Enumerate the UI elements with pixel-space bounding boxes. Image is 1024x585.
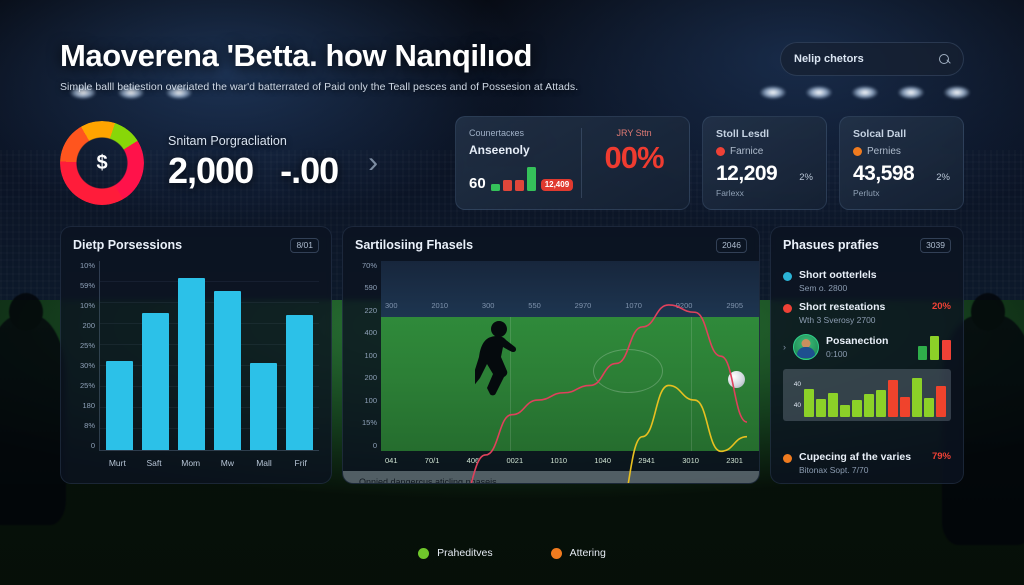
mini-bar [924,398,934,416]
axis-tick-label: 59% [73,281,95,290]
list-item-sub: Sem o. 2800 [799,283,944,293]
bar-Mom[interactable] [178,278,205,450]
possession-plot [99,261,319,451]
stat-card-1-pct: 2% [799,172,813,183]
axis-tick-label: 200 [73,321,95,330]
search-input[interactable]: Nelip chetors [780,42,964,76]
stat-card-1-sub: Farnice [716,146,813,157]
chevron-right-icon[interactable]: › [783,342,786,352]
profiles-panel: Phasues prafies 3039 Short ootterlels Se… [770,226,964,484]
counterattacks-pill: 12,409 [541,179,573,191]
legend-item-0[interactable]: Praheditves [418,547,492,559]
status-dot-icon [853,147,862,156]
status-dot-icon [716,147,725,156]
counterattacks-left: Counertacкes Anseenoly 60 12,409 [469,128,582,198]
axis-tick-label: Frif [282,458,319,468]
mini-bar [840,405,850,417]
mini-bar [900,397,910,416]
list-item-pct: 20% [932,301,951,312]
mini-bar [936,386,946,416]
stat-card-1-foot: Farlexx [716,188,813,198]
mini-bar [876,390,886,417]
mini-bar [888,380,898,417]
stat-card-1-value: 12,209 [716,162,777,186]
panels-row: Dietp Porsessions 8/01 10%59%10%20025%30… [60,226,964,484]
axis-tick-label: 220 [355,306,377,315]
legend-item-1[interactable]: Attering [551,547,606,559]
profiles-footer[interactable]: Cupecing af the varies Bitonax Sopt. 7/7… [783,443,951,475]
footer-item-name: Cupecing af the varies [799,451,925,463]
hero-metric: Snitam Porgracliation 2,000 -.00 [168,134,338,192]
search-value: Nelip chetors [794,53,931,65]
axis-tick-label: 400 [355,328,377,337]
counterattacks-card[interactable]: Counertacкes Anseenoly 60 12,409 [455,116,690,210]
bar-Murt[interactable] [106,361,133,450]
phases-line-series [381,261,747,485]
possession-chart: 10%59%10%20025%30%25%1808%0 [73,261,319,451]
status-dot-icon [783,304,792,313]
stat-card-1-title: Stoll Lesdl [716,128,813,140]
phases-panel-header: Sartilosiing Fhasels 2046 [355,238,747,253]
axis-tick-label: 100 [355,396,377,405]
axis-tick-label: Mom [172,458,209,468]
stat-card-2-sub-label: Pernies [867,146,901,157]
list-item-name: Short resteations [799,301,925,313]
axis-tick-label: 200 [355,373,377,382]
possession-panel-badge[interactable]: 8/01 [290,238,319,253]
axis-tick-label: Mall [246,458,283,468]
axis-tick-label: Mw [209,458,246,468]
legend-dot-icon [551,548,562,559]
axis-tick-label: 15% [355,418,377,427]
phases-panel-title: Sartilosiing Fhasels [355,238,473,252]
hero-row: $ Snitam Porgracliation 2,000 -.00 › Cou… [60,116,964,210]
footer-item-sub: Bitonax Sopt. 7/70 [799,465,925,475]
profiles-panel-header: Phasues prafies 3039 [783,238,951,253]
profile-mini-bars [918,334,951,360]
axis-tick-label: 25% [73,341,95,350]
hero-metric-value: 2,000 -.00 [168,150,338,192]
stat-card-2-foot: Perlutx [853,188,950,198]
stat-card-2-pct: 2% [936,172,950,183]
axis-tick-label: 0 [73,441,95,450]
mini-chart-bars [804,374,946,417]
phases-y-axis: 70%59022040010020010015%0 [355,261,381,451]
list-item[interactable]: Short resteations Wth 3 Sverosy 2700 20% [783,301,951,325]
bar-Mw[interactable] [214,291,241,450]
bar-Mall[interactable] [250,363,277,450]
header-text-block: Maoverena 'Betta. how Nanqilıod Simple b… [60,38,578,93]
counterattacks-sparkline [491,165,536,191]
footer-item-pct: 79% [932,451,951,462]
stat-card-2-title: Solcal Dall [853,128,950,140]
mini-bar [804,389,814,417]
axis-tick-label: 40 [788,381,801,388]
chart-legend: Praheditves Attering [0,547,1024,559]
stat-card-1[interactable]: Stoll Lesdl Farnice 12,209 2% Farlexx [702,116,827,210]
possession-x-axis: MurtSaftMomMwMallFrif [73,458,319,468]
stat-card-2[interactable]: Solcal Dall Pernies 43,598 2% Perlutx [839,116,964,210]
stat-card-2-value: 43,598 [853,162,914,186]
counterattacks-row: 60 12,409 [469,165,573,191]
axis-tick-label: 8% [73,421,95,430]
possession-panel-header: Dietp Porsessions 8/01 [73,238,319,253]
profiles-mini-bar-chart: 4040 [783,369,951,421]
phases-line-panel: Sartilosiing Fhasels 2046 70%59022040010… [342,226,760,484]
phases-panel-badge[interactable]: 2046 [716,238,747,253]
possession-panel-title: Dietp Porsessions [73,238,182,252]
list-item[interactable]: Cupecing af the varies Bitonax Sopt. 7/7… [783,451,951,475]
avatar [793,334,819,360]
axis-tick-label: 70% [355,261,377,270]
counterattacks-label: Anseenoly [469,143,573,157]
profile-sub: 0:100 [826,349,888,359]
donut-gauge[interactable]: $ [60,121,144,205]
counterattacks-right: JRY Sttn 00% [582,128,676,198]
mini-bar [816,399,826,416]
bar-Frif[interactable] [286,315,313,449]
axis-tick-label: 25% [73,381,95,390]
jry-value: 00% [605,142,664,173]
bar-Saft[interactable] [142,313,169,449]
profile-name: Posanection [826,335,888,347]
profiles-panel-badge[interactable]: 3039 [920,238,951,253]
mini-bar [852,400,862,416]
mini-bar [828,393,838,417]
hero-metric-label: Snitam Porgracliation [168,134,338,148]
axis-tick-label: 0 [355,441,377,450]
legend-dot-icon [418,548,429,559]
legend-label: Attering [570,547,606,559]
axis-tick-label: 590 [355,283,377,292]
status-dot-icon [783,454,792,463]
page-subtitle: Simple balll betiestion overiated the wa… [60,81,578,93]
profile-row[interactable]: › Posanection 0:100 [783,334,951,360]
line-series-Attering [381,304,747,484]
legend-label: Praheditves [437,547,492,559]
status-dot-icon [783,272,792,281]
phases-chart: 70%59022040010020010015%0 30020103005502… [355,261,747,451]
search-icon[interactable] [939,54,950,65]
page-title: Maoverena 'Betta. how Nanqilıod [60,38,578,74]
stat-card-2-sub: Pernies [853,146,950,157]
axis-tick-label: Murt [99,458,136,468]
phases-plot: 30020103005502970107092002905 [381,261,747,451]
jry-title: JRY Sttn [616,128,651,138]
header: Maoverena 'Betta. how Nanqilıod Simple b… [60,38,964,93]
axis-tick-label: 30% [73,361,95,370]
chevron-right-icon[interactable]: › [368,148,378,178]
axis-tick-label: 40 [788,402,801,409]
mini-bar [912,378,922,417]
counterattacks-value: 60 [469,176,486,191]
list-item-sub: Wth 3 Sverosy 2700 [799,315,925,325]
currency-icon: $ [60,121,144,205]
line-series-Praheditves [381,385,747,484]
list-item-name: Short ootterlels [799,269,944,281]
hero-cards: Counertacкes Anseenoly 60 12,409 [455,116,964,210]
mini-chart-y-axis: 4040 [788,374,804,417]
axis-tick-label: 10% [73,301,95,310]
list-item[interactable]: Short ootterlels Sem o. 2800 [783,269,951,293]
mini-bar [864,394,874,417]
axis-tick-label: 10% [73,261,95,270]
possession-y-axis: 10%59%10%20025%30%25%1808%0 [73,261,99,451]
stat-card-1-valrow: 12,209 2% [716,157,813,186]
dashboard-root: Maoverena 'Betta. how Nanqilıod Simple b… [0,0,1024,585]
possession-bar-panel: Dietp Porsessions 8/01 10%59%10%20025%30… [60,226,332,484]
axis-tick-label: 100 [355,351,377,360]
stat-card-2-valrow: 43,598 2% [853,157,950,186]
stat-card-1-sub-label: Farnice [730,146,763,157]
profiles-panel-title: Phasues prafies [783,238,879,252]
axis-tick-label: 180 [73,401,95,410]
counterattacks-title: Counertacкes [469,128,573,138]
axis-tick-label: Saft [136,458,173,468]
